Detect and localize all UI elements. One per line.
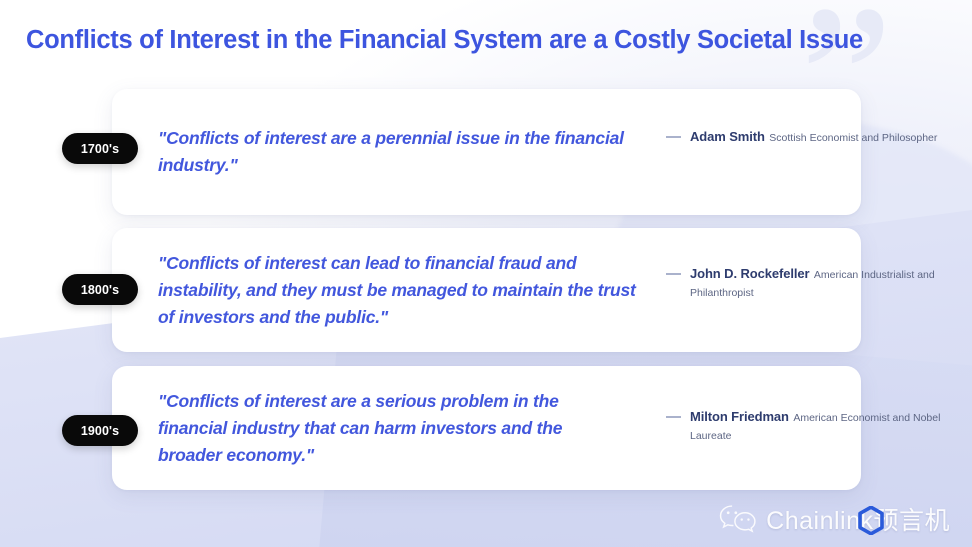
- era-badge: 1800's: [62, 274, 138, 305]
- attribution-dash-icon: [666, 136, 681, 138]
- author-name: John D. Rockefeller: [690, 266, 809, 281]
- attribution-text: Milton Friedman American Economist and N…: [690, 408, 972, 444]
- quote-text: "Conflicts of interest are a serious pro…: [158, 388, 628, 469]
- era-badge: 1700's: [62, 133, 138, 164]
- attribution: Milton Friedman American Economist and N…: [666, 408, 972, 444]
- author-name: Adam Smith: [690, 129, 765, 144]
- quote-text: "Conflicts of interest are a perennial i…: [158, 125, 638, 179]
- era-badge: 1900's: [62, 415, 138, 446]
- author-role: Scottish Economist and Philosopher: [769, 132, 937, 144]
- attribution-dash-icon: [666, 416, 681, 418]
- attribution-dash-icon: [666, 273, 681, 275]
- slide-root: ” Conflicts of Interest in the Financial…: [0, 0, 972, 547]
- attribution: Adam Smith Scottish Economist and Philos…: [666, 128, 937, 146]
- attribution-text: John D. Rockefeller American Industriali…: [690, 265, 972, 301]
- page-title: Conflicts of Interest in the Financial S…: [26, 26, 863, 55]
- author-name: Milton Friedman: [690, 409, 789, 424]
- attribution: John D. Rockefeller American Industriali…: [666, 265, 972, 301]
- quote-text: "Conflicts of interest can lead to finan…: [158, 250, 643, 331]
- attribution-text: Adam Smith Scottish Economist and Philos…: [690, 128, 937, 146]
